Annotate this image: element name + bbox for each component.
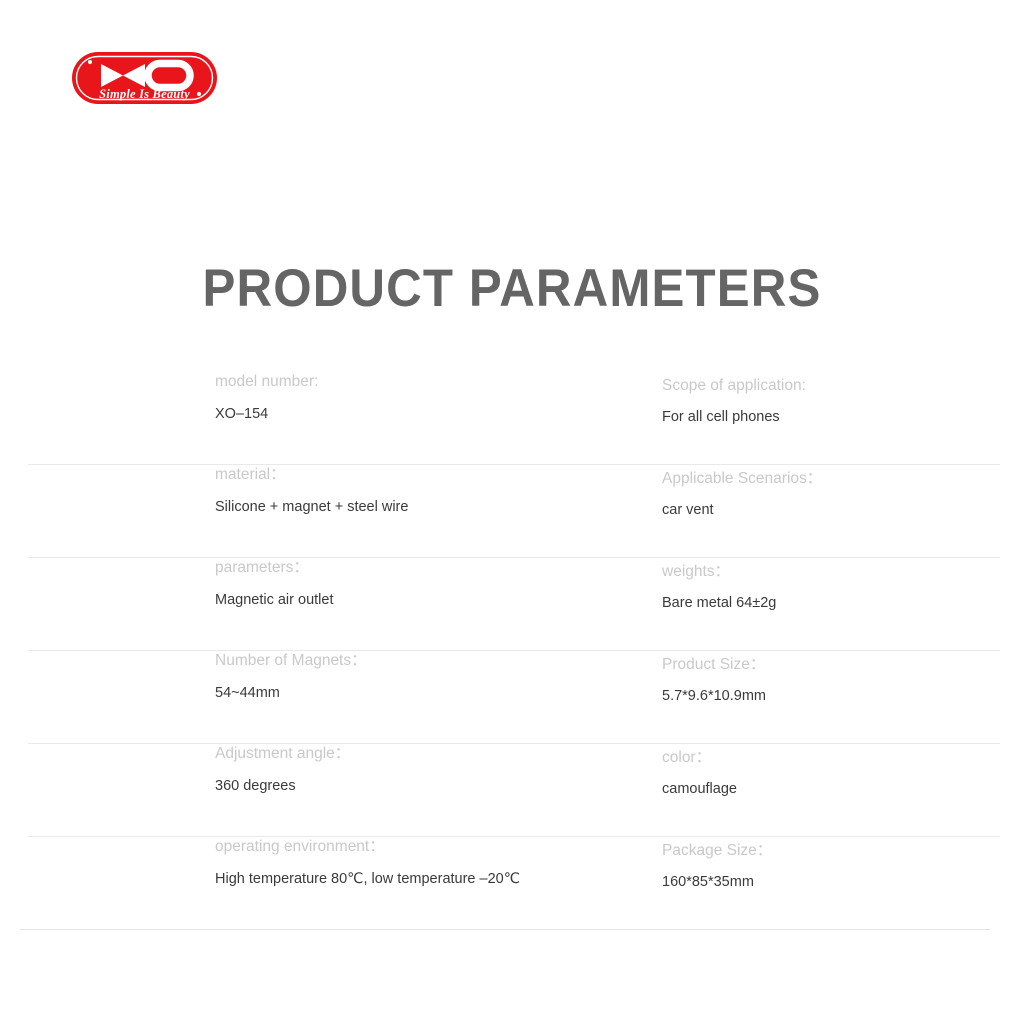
spec-label: model number:	[215, 372, 318, 392]
spec-value: 54~44mm	[215, 684, 367, 703]
spec-label: weights：	[662, 562, 776, 582]
spec-cell-left: parameters： Magnetic air outlet	[215, 558, 333, 610]
spec-value: High temperature 80℃, low temperature –2…	[215, 870, 520, 889]
spec-label: Package Size：	[662, 841, 772, 861]
spec-label: Scope of application:	[662, 376, 806, 396]
spec-row: parameters： Magnetic air outlet weights：…	[28, 558, 1000, 651]
spec-cell-left: material： Silicone + magnet + steel wire	[215, 465, 408, 517]
spec-label: material：	[215, 465, 408, 485]
spec-label: operating environment：	[215, 837, 520, 857]
spec-label: color：	[662, 748, 737, 768]
svg-text:Simple Is Beauty: Simple Is Beauty	[99, 87, 190, 101]
spec-value: 160*85*35mm	[662, 873, 772, 892]
spec-label: Number of Magnets：	[215, 651, 367, 671]
specs-table: model number: XO–154 Scope of applicatio…	[0, 372, 1024, 930]
spec-value: camouflage	[662, 780, 737, 799]
spec-cell-right: Package Size： 160*85*35mm	[662, 837, 772, 892]
spec-cell-left: Number of Magnets： 54~44mm	[215, 651, 367, 703]
product-parameters-page: Simple Is Beauty PRODUCT PARAMETERS mode…	[0, 0, 1024, 1024]
spec-cell-left: operating environment： High temperature …	[215, 837, 520, 889]
spec-value: 5.7*9.6*10.9mm	[662, 687, 766, 706]
spec-label: Product Size：	[662, 655, 766, 675]
spec-cell-right: Scope of application: For all cell phone…	[662, 372, 806, 427]
xo-logo-icon: Simple Is Beauty	[71, 51, 218, 105]
spec-value: Silicone + magnet + steel wire	[215, 498, 408, 517]
spec-label: parameters：	[215, 558, 333, 578]
spec-value: For all cell phones	[662, 408, 806, 427]
spec-cell-right: color： camouflage	[662, 744, 737, 799]
spec-row: Adjustment angle： 360 degrees color： cam…	[28, 744, 1000, 837]
spec-cell-right: weights： Bare metal 64±2g	[662, 558, 776, 613]
spec-cell-left: model number: XO–154	[215, 372, 318, 424]
spec-value: Magnetic air outlet	[215, 591, 333, 610]
spec-row: Number of Magnets： 54~44mm Product Size：…	[28, 651, 1000, 744]
page-title: PRODUCT PARAMETERS	[36, 254, 988, 324]
spec-value: Bare metal 64±2g	[662, 594, 776, 613]
spec-cell-left: Adjustment angle： 360 degrees	[215, 744, 350, 796]
spec-cell-right: Product Size： 5.7*9.6*10.9mm	[662, 651, 766, 706]
spec-value: 360 degrees	[215, 777, 350, 796]
spec-label: Applicable Scenarios：	[662, 469, 822, 489]
spec-label: Adjustment angle：	[215, 744, 350, 764]
spec-value: XO–154	[215, 405, 318, 424]
spec-row: model number: XO–154 Scope of applicatio…	[28, 372, 1000, 465]
xo-brand-logo: Simple Is Beauty	[71, 51, 218, 105]
spec-cell-right: Applicable Scenarios： car vent	[662, 465, 822, 520]
spec-value: car vent	[662, 501, 822, 520]
spec-row: material： Silicone + magnet + steel wire…	[28, 465, 1000, 558]
spec-row: operating environment： High temperature …	[20, 837, 990, 930]
